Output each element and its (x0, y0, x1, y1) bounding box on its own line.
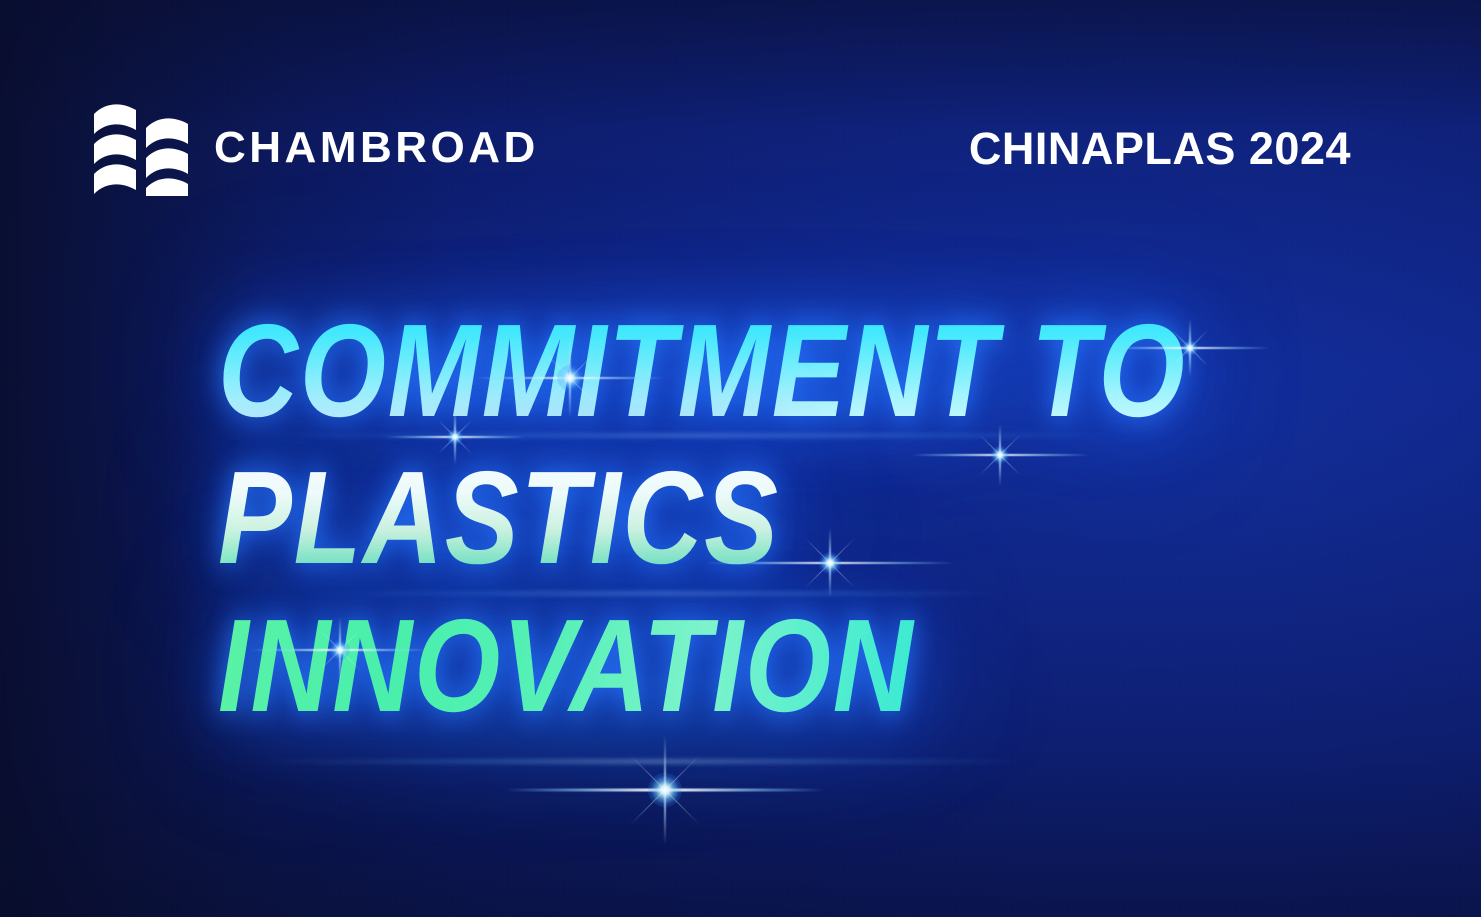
event-title: CHINAPLAS 2024 (969, 126, 1351, 171)
headline-line-2: PLASTICS (218, 453, 1184, 582)
headline-block: COMMITMENT TO PLASTICS INNOVATION (218, 306, 1368, 730)
brand-name: CHAMBROAD (214, 126, 539, 170)
headline-line-1: COMMITMENT TO (218, 306, 1184, 435)
chambroad-wave-logo-icon (92, 100, 192, 196)
headline-line-3: INNOVATION (218, 601, 1184, 730)
promo-banner: CHAMBROAD CHINAPLAS 2024 COMMITMENT TO P… (0, 0, 1481, 917)
banner-header: CHAMBROAD CHINAPLAS 2024 (0, 100, 1481, 204)
brand-lockup: CHAMBROAD (92, 100, 539, 196)
